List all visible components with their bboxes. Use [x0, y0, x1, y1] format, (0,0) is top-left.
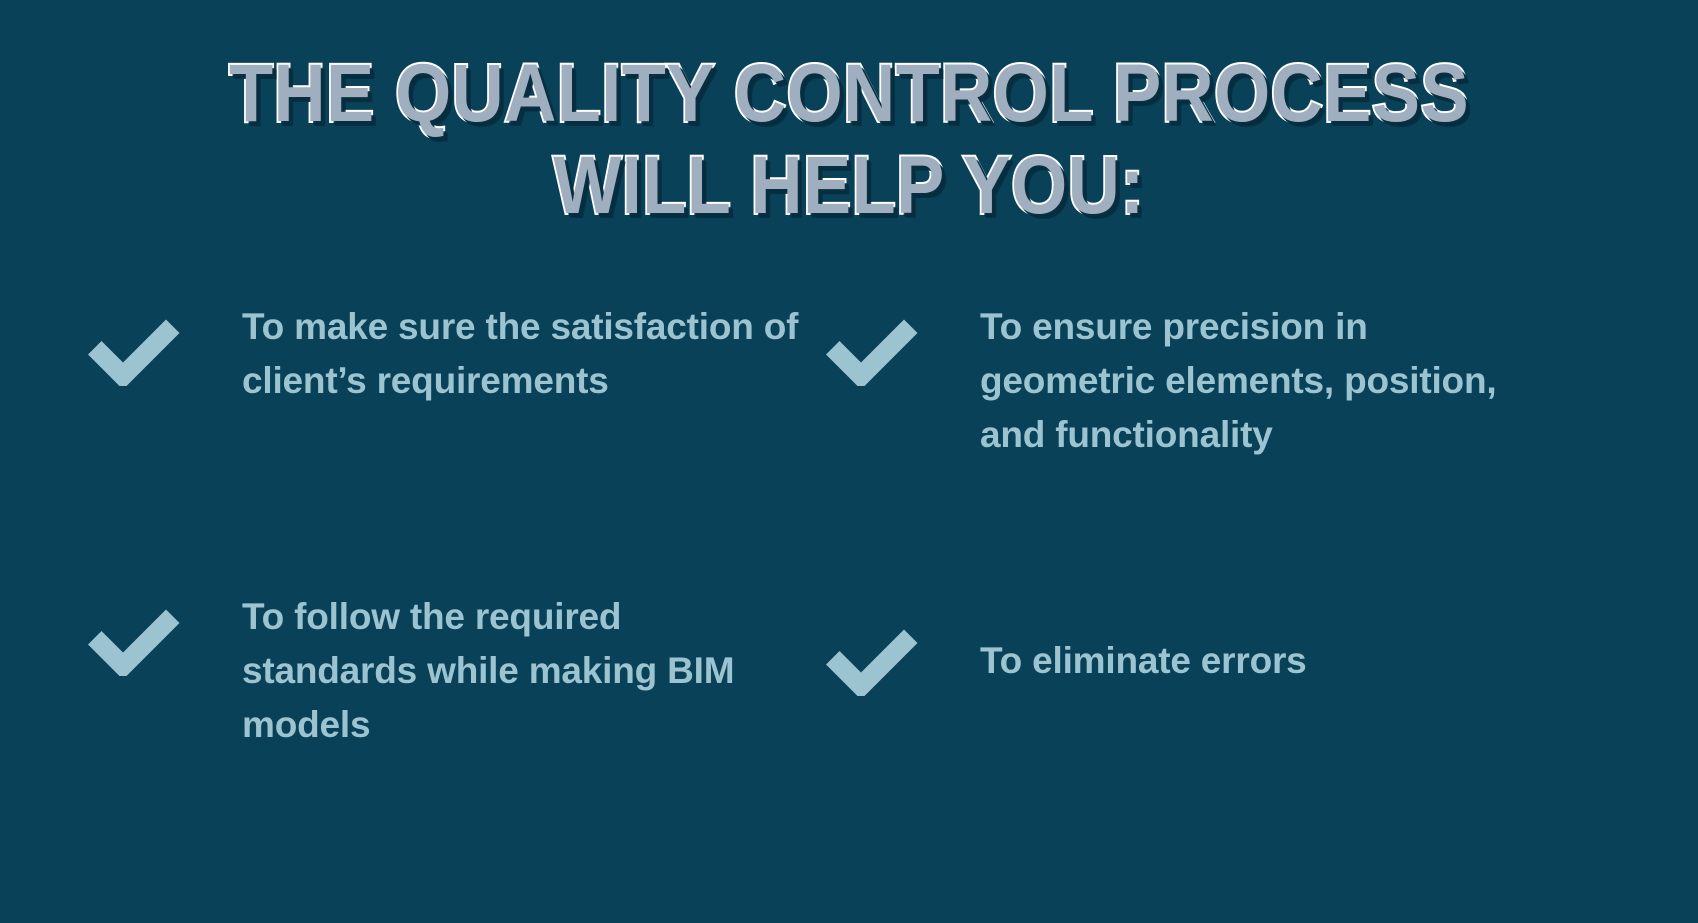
slide-canvas: THE QUALITY CONTROL PROCESS WILL HELP YO…	[0, 0, 1698, 923]
list-item: To eliminate errors	[826, 618, 1566, 696]
checklist: To make sure the satisfaction of client’…	[0, 300, 1698, 860]
title-line-2: WILL HELP YOU:	[102, 140, 1596, 232]
title-line-1: THE QUALITY CONTROL PROCESS	[102, 48, 1596, 140]
list-item-label: To ensure precision in geometric element…	[980, 300, 1540, 462]
checkmark-icon	[88, 308, 180, 386]
checkmark-icon	[826, 618, 918, 696]
list-item-label: To make sure the satisfaction of client’…	[242, 300, 802, 408]
list-item: To ensure precision in geometric element…	[826, 300, 1566, 462]
list-item: To follow the required standards while m…	[88, 590, 808, 752]
checkmark-icon	[826, 308, 918, 386]
page-title: THE QUALITY CONTROL PROCESS WILL HELP YO…	[0, 48, 1698, 232]
checkmark-icon	[88, 598, 180, 676]
list-item-label: To follow the required standards while m…	[242, 590, 762, 752]
list-item-label: To eliminate errors	[980, 618, 1540, 688]
list-item: To make sure the satisfaction of client’…	[88, 300, 808, 408]
